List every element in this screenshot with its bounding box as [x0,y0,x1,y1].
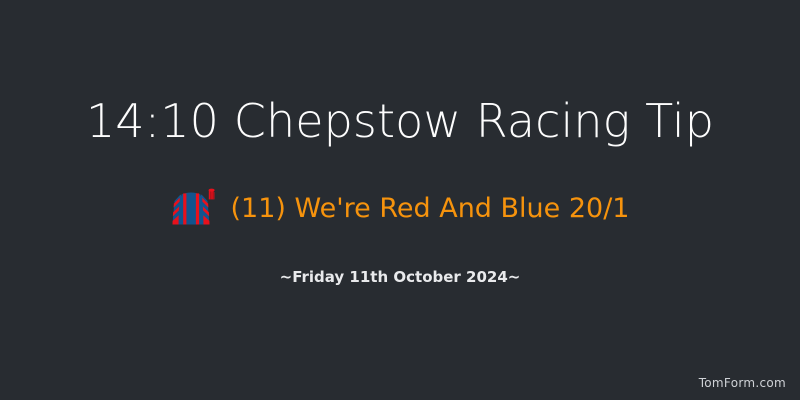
tip-selection-text: (11) We're Red And Blue 20/1 [230,195,629,222]
race-date: ~Friday 11th October 2024~ [0,270,800,285]
tip-selection-row: (11) We're Red And Blue 20/1 [0,186,800,230]
site-watermark: TomForm.com [699,376,786,390]
page-title: 14:10 Chepstow Racing Tip [0,98,800,144]
jockey-silks-icon [170,186,216,230]
racing-tip-card: 14:10 Chepstow Racing Tip (11) We're Red… [0,0,800,400]
